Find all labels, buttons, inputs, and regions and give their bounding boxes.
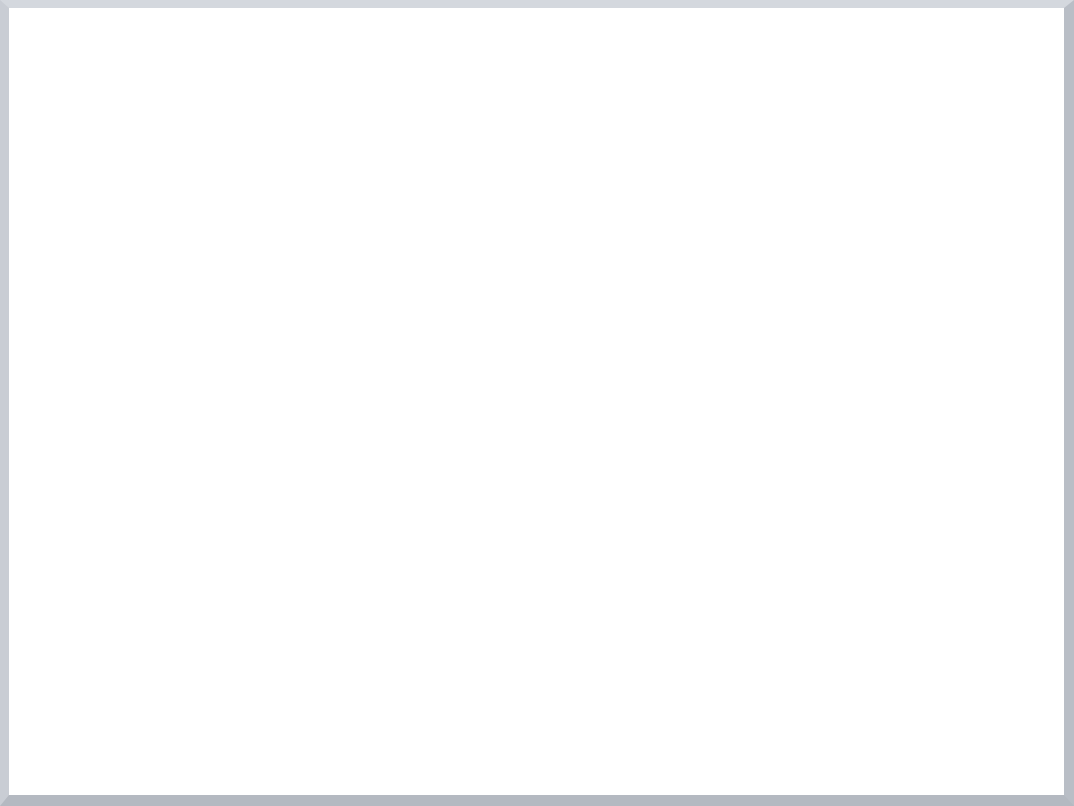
node-res[interactable]: RES bbox=[170, 25, 295, 153]
edge-label-l-a-cree-oeuvre: a créé bbox=[273, 309, 311, 326]
edge-oeuvre-res bbox=[119, 156, 215, 238]
edge-label-l-est-un-collectif: est un bbox=[817, 573, 854, 590]
node-label: MANIFESTATION bbox=[338, 571, 480, 592]
edge-label-l-lieu-a-pour-partie: a pour partie bbox=[975, 313, 1051, 330]
edge-label-l-est-membre-de: est membre de bbox=[701, 645, 791, 662]
edge-label-l-a-pour-sujet: a pour sujet bbox=[164, 204, 235, 221]
edge-agent-collectif bbox=[754, 536, 841, 658]
edge-label-l-a-pour-lieu-associe: a pour lieu associé bbox=[623, 129, 736, 146]
edge-label-l-item-a-pour-reproduction: a pour reproduction bbox=[343, 736, 460, 753]
node-nomen[interactable]: NOMEN bbox=[485, 174, 633, 312]
edge-label-l-possede-modifie: possède a modifié bbox=[559, 581, 614, 614]
node-laps[interactable]: LAPS DE TEMPS bbox=[859, 37, 989, 151]
edge-nomen-agent bbox=[625, 290, 673, 412]
node-item[interactable]: ITEM bbox=[483, 676, 624, 795]
edge-label-l-materialise: matérialise bbox=[322, 498, 387, 515]
node-label: LAPS DE TEMPS bbox=[884, 72, 964, 116]
node-label: RES bbox=[212, 78, 251, 101]
node-lieu[interactable]: LIEU bbox=[873, 190, 994, 300]
edge-label-l-oeuvre-quintet: a pour partie précède accompagne / compl… bbox=[27, 393, 180, 476]
node-expression[interactable]: EXPRESSION bbox=[184, 380, 355, 504]
node-label: EXPRESSION bbox=[209, 431, 328, 453]
edge-label-l-laps-a-pour-partie: a pour partie bbox=[975, 163, 1051, 180]
node-label: ITEM bbox=[531, 728, 575, 750]
edge-label-l-a-ete-attribue-par: a été attribué par bbox=[669, 362, 771, 379]
node-label: NOMEN bbox=[525, 232, 593, 254]
node-label: AGENT COLLECTIF bbox=[873, 629, 976, 673]
edge-label-l-expr-trio: a pour partie est dérivée de a été agrég… bbox=[97, 520, 204, 570]
node-label: LIEU bbox=[913, 234, 955, 256]
edge-label-l-est-un-personne: est un bbox=[832, 509, 869, 526]
edge-label-l-manif-self-trio: a pour partie a pour reproduction a pour… bbox=[212, 647, 394, 697]
edge-label-l-nomen-trio: a pour partie est l’équivalent de est dé… bbox=[671, 237, 779, 287]
edge-collectif-agent bbox=[791, 522, 861, 602]
edge-label-l-manif-trio: a créé a fabriqué distribue bbox=[449, 463, 509, 513]
node-agent[interactable]: AGENT bbox=[641, 404, 782, 556]
edge-label-l-a-pour-laps: a pour laps de temps associé bbox=[498, 36, 674, 53]
edge-label-l-a-cree-expression: a créé bbox=[358, 356, 396, 373]
node-label: AGENT bbox=[679, 469, 743, 491]
edge-label-l-exemplifie: exemplifie bbox=[471, 643, 532, 660]
node-label: PERSONNE bbox=[924, 482, 1026, 504]
node-agentcoll[interactable]: AGENT COLLECTIF bbox=[853, 592, 997, 710]
edge-label-l-a-pour-appellation: a pour appellation bbox=[319, 130, 426, 147]
node-personne[interactable]: PERSONNE bbox=[901, 432, 1049, 554]
edge-label-l-realise: réalise bbox=[185, 356, 225, 373]
edge-agent-item bbox=[554, 458, 650, 674]
node-oeuvre[interactable]: OEUVRE bbox=[48, 237, 196, 361]
diagram-canvas: RESLAPS DE TEMPSNOMENLIEUOEUVREEXPRESSIO… bbox=[0, 0, 1074, 806]
edge-label-l-est-associee-a: est associée à bbox=[60, 120, 146, 137]
edge-label-l-coll-duo: a pour partie précède bbox=[961, 745, 1037, 778]
diagram-inner-surface: RESLAPS DE TEMPSNOMENLIEUOEUVREEXPRESSIO… bbox=[9, 8, 1064, 795]
node-manif[interactable]: MANIFESTATION bbox=[316, 522, 503, 640]
node-label: OEUVRE bbox=[84, 288, 161, 310]
